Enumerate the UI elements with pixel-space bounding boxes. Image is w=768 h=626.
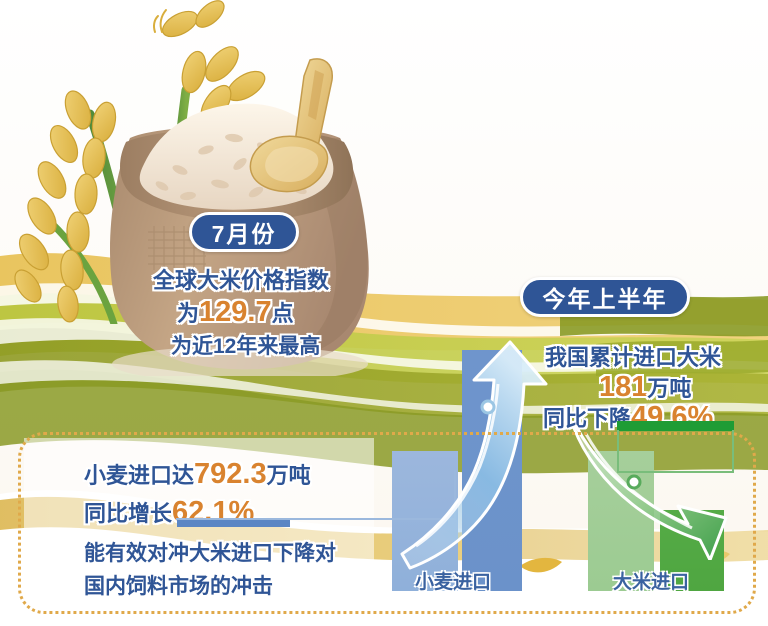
rice-import-value: 181	[599, 371, 647, 403]
rice-price-index-value-line: 为129.7点	[177, 296, 294, 329]
rice-price-note: 为近12年来最高	[171, 330, 320, 360]
rice-price-prefix: 为	[177, 301, 199, 326]
badge-first-half-year: 今年上半年	[520, 277, 690, 317]
infographic-canvas: 7月份 今年上半年 全球大米价格指数 为129.7点 为近12年来最高 我国累计…	[0, 0, 768, 626]
rice-import-unit: 万吨	[647, 376, 691, 401]
rice-price-value: 129.7	[199, 296, 272, 328]
rice-import-label: 我国累计进口大米	[545, 340, 721, 372]
badge-july: 7月份	[189, 212, 299, 252]
rice-import-volume-line: 181万吨	[599, 371, 691, 404]
rice-price-suffix: 点	[272, 301, 294, 326]
rice-price-index-label: 全球大米价格指数	[153, 263, 329, 295]
dotted-content-frame	[18, 432, 756, 614]
